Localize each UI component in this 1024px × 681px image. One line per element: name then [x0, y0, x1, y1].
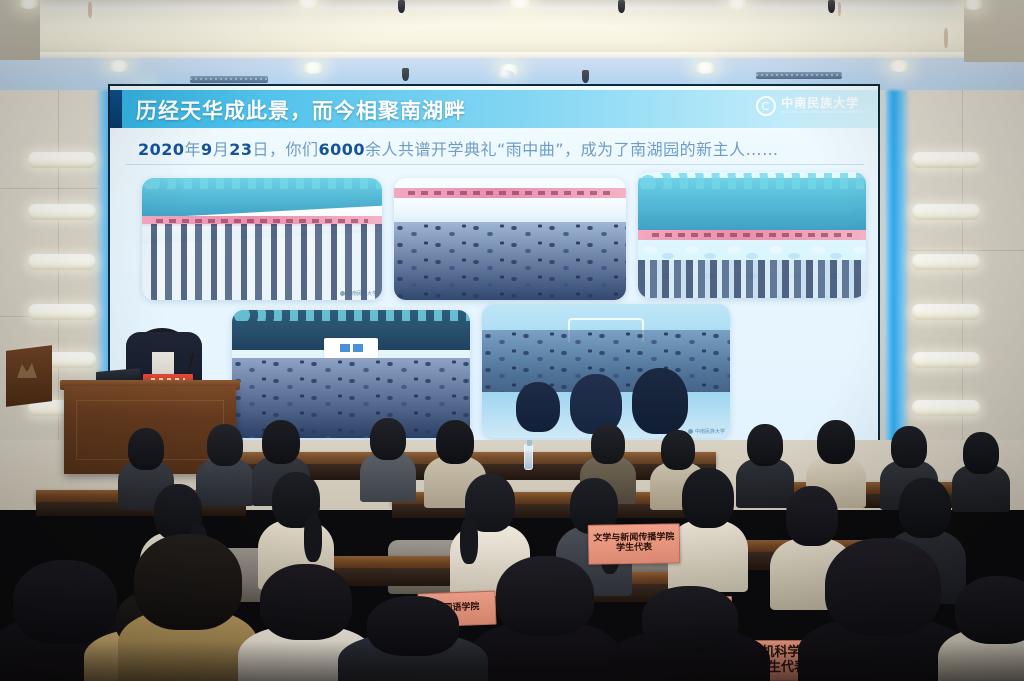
- wall-seam: [0, 188, 98, 189]
- auditorium-scene: 历经天华成此景，而今相聚南湖畔 中南民族大学 SOUTH-CENTRAL MIN…: [0, 0, 1024, 681]
- ceiling-downlight: [888, 60, 910, 72]
- wall-strip-light: [912, 400, 980, 416]
- audience-person: [360, 418, 416, 498]
- subtitle-sep-year: 年: [185, 140, 202, 159]
- subtitle-mid: 日，你们: [252, 140, 318, 159]
- ceiling-dome-light: [498, 70, 514, 79]
- subtitle-sep-month: 月: [213, 140, 230, 159]
- ceiling-soffit: [0, 10, 1024, 56]
- subtitle-day: 23: [229, 140, 252, 159]
- ceiling-speaker-icon: [618, 0, 625, 13]
- subtitle-month: 9: [201, 140, 213, 159]
- wall-seam: [910, 250, 1024, 251]
- photo-scoreboard: [324, 338, 378, 358]
- placard-role: 学生代表: [616, 544, 652, 555]
- university-logo: 中南民族大学 SOUTH-CENTRAL MINZU UNIVERSITY: [756, 96, 866, 116]
- slide-subtitle: 2020年9月23日，你们6000余人共谱开学典礼“雨中曲”，成为了南湖园的新主…: [138, 136, 864, 162]
- ceiling-speaker-icon: [398, 0, 405, 13]
- wall-strip-light: [28, 304, 96, 320]
- wall-accent-glow-right: [886, 90, 910, 462]
- photo-students-closeup: 中南民族大学: [482, 304, 730, 438]
- university-name-cn: 中南民族大学: [781, 97, 866, 109]
- subtitle-count: 6000: [318, 140, 365, 159]
- university-name-en: SOUTH-CENTRAL MINZU UNIVERSITY: [781, 109, 866, 115]
- ceiling-speaker-icon: [828, 0, 835, 13]
- photo-stadium-crowd: [394, 178, 626, 300]
- subtitle-year: 2020: [138, 140, 185, 159]
- wall-strip-light: [912, 304, 980, 320]
- lighting-truss: [190, 76, 268, 83]
- photo-students-lineup: 中南民族大学: [142, 178, 382, 300]
- slide-accent-bar: [110, 90, 122, 128]
- ceiling-left-return: [0, 0, 40, 60]
- wall-strip-light: [912, 204, 980, 220]
- photo-seated-crowd: [232, 310, 470, 438]
- microphone-icon: [188, 350, 193, 355]
- audience-person: [668, 468, 748, 586]
- photo-umbrella-crowd: [638, 172, 866, 298]
- wall-strip-light: [912, 254, 980, 270]
- podium-emblem-icon: [14, 360, 40, 382]
- ceiling-stain: [944, 28, 948, 48]
- wall-strip-light: [28, 254, 96, 270]
- wall-strip-light: [912, 352, 980, 368]
- ceiling-downlight: [302, 62, 324, 74]
- ceiling-stain: [838, 2, 841, 16]
- wall-strip-light: [28, 152, 96, 168]
- lighting-truss: [756, 72, 842, 79]
- photo-people: [142, 224, 382, 300]
- ceiling-speaker-icon: [582, 70, 589, 83]
- slide-divider: [126, 164, 864, 165]
- ceiling-downlight: [108, 60, 130, 72]
- slide-title: 历经天华成此景，而今相聚南湖畔: [136, 95, 466, 125]
- photo-watermark: 中南民族大学: [340, 290, 377, 297]
- university-seal-icon: [756, 96, 776, 116]
- foreground-shadow: [0, 641, 1024, 681]
- wall-strip-light: [28, 204, 96, 220]
- wall-strip-light: [912, 152, 980, 168]
- water-bottle: [524, 444, 533, 470]
- ceiling-speaker-icon: [402, 68, 409, 81]
- subtitle-tail: 余人共谱开学典礼“雨中曲”，成为了南湖园的新主人……: [365, 140, 779, 159]
- ceiling-downlight: [694, 62, 716, 74]
- ceiling-stain: [88, 2, 92, 18]
